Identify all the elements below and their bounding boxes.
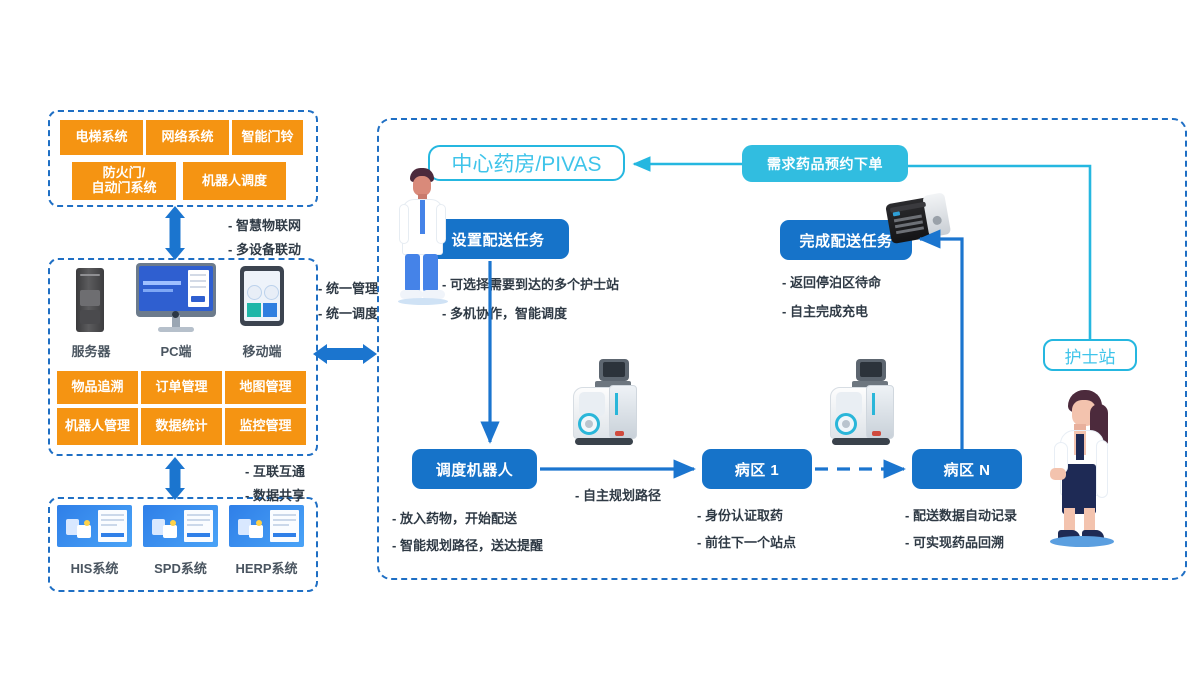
ward-1-note-1: - 前往下一个站点 [697,532,796,551]
device-label-mobile: 移动端 [229,341,295,360]
complete-delivery-task-note-1: - 自主完成充电 [782,301,868,320]
tile-network-system[interactable]: 网络系统 [146,120,229,155]
spd-system-thumbnail [143,505,218,547]
tile-elevator-system[interactable]: 电梯系统 [60,120,143,155]
pharmacist-illustration [396,168,450,308]
dispatch-robot-note-1: - 智能规划路径，送达提醒 [392,535,543,554]
herp-system-thumbnail [229,505,304,547]
diagram-canvas: 电梯系统 网络系统 智能门铃 防火门/ 自动门系统 机器人调度 - 智慧物联网 … [0,0,1200,698]
tablet-icon [240,266,284,326]
platform-note-0: - 统一管理 [318,278,378,297]
tile-item-tracing[interactable]: 物品追溯 [57,371,138,404]
desktop-monitor-icon [136,263,216,335]
tile-fire-auto-door-system[interactable]: 防火门/ 自动门系统 [72,162,176,200]
device-label-server: 服务器 [58,341,124,360]
tile-robot-dispatch[interactable]: 机器人调度 [183,162,286,200]
dispatch-robot-note-0: - 放入药物，开始配送 [392,508,517,527]
delivery-robot-1 [565,359,643,449]
tile-monitoring-management[interactable]: 监控管理 [225,408,306,445]
iot-note-1: - 多设备联动 [228,239,301,258]
tile-order-management[interactable]: 订单管理 [141,371,222,404]
his-system-thumbnail [57,505,132,547]
delivery-robot-2 [822,359,900,449]
tile-robot-management[interactable]: 机器人管理 [57,408,138,445]
system-label-spd: SPD系统 [143,558,218,577]
ward-n-note-1: - 可实现药品回溯 [905,532,1004,551]
nurse-station-node[interactable]: 护士站 [1043,339,1137,371]
set-delivery-task-note-0: - 可选择需要到达的多个护士站 [442,274,619,293]
iot-note-0: - 智慧物联网 [228,215,301,234]
route-edge-label: - 自主规划路径 [575,485,661,504]
tile-smart-doorbell[interactable]: 智能门铃 [232,120,303,155]
systems-note-0: - 互联互通 [245,461,305,480]
charging-dock-device [884,188,954,248]
iot-to-platform-arrow [165,206,185,260]
dispatch-robot-node[interactable]: 调度机器人 [412,449,537,489]
system-label-his: HIS系统 [57,558,132,577]
tile-map-management[interactable]: 地图管理 [225,371,306,404]
tile-data-statistics[interactable]: 数据统计 [141,408,222,445]
ward-1-node[interactable]: 病区 1 [702,449,812,489]
system-label-herp: HERP系统 [229,558,304,577]
platform-note-1: - 统一调度 [318,303,378,322]
ward-n-note-0: - 配送数据自动记录 [905,505,1017,524]
set-delivery-task-note-1: - 多机协作，智能调度 [442,303,567,322]
systems-note-1: - 数据共享 [245,485,305,504]
device-label-pc: PC端 [143,341,209,360]
server-icon [72,268,108,332]
nurse-illustration [1042,390,1128,550]
order-request-node[interactable]: 需求药品预约下单 [742,145,908,182]
platform-to-workflow-arrow [313,344,377,364]
central-pharmacy-node[interactable]: 中心药房/PIVAS [428,145,625,181]
ward-1-note-0: - 身份认证取药 [697,505,783,524]
platform-to-systems-arrow [165,457,185,500]
ward-n-node[interactable]: 病区 N [912,449,1022,489]
complete-delivery-task-note-0: - 返回停泊区待命 [782,272,881,291]
